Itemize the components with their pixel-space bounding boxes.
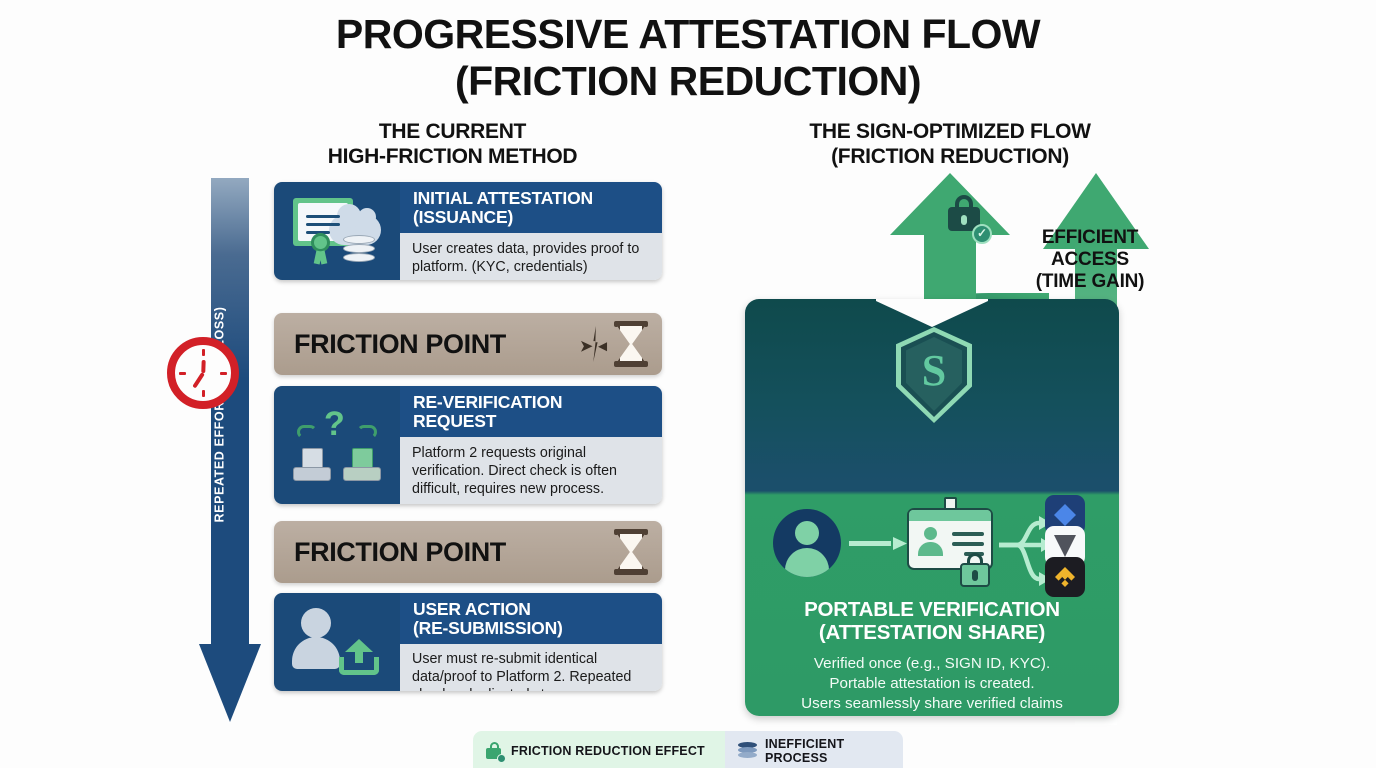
body-line-2: Portable attestation is created. — [757, 674, 1107, 694]
friction-label: FRICTION POINT — [294, 329, 580, 360]
legend-item-friction-reduction: FRICTION REDUCTION EFFECT — [473, 731, 725, 768]
portable-verification-title: PORTABLE VERIFICATION (ATTESTATION SHARE… — [745, 599, 1119, 645]
step-body: USER ACTION (RE-SUBMISSION) User must re… — [400, 593, 662, 691]
secure-access-arrow: ✓ — [890, 173, 1010, 303]
clock-icon — [167, 337, 239, 409]
shield-letter: S — [896, 349, 972, 393]
step-description: Platform 2 requests original verificatio… — [400, 437, 662, 504]
efficient-line-1: EFFICIENT — [1042, 227, 1138, 248]
step-body: INITIAL ATTESTATION (ISSUANCE) User crea… — [400, 182, 662, 280]
title-line-1: PROGRESSIVE ATTESTATION FLOW — [336, 11, 1040, 57]
efficient-access-label: EFFICIENT ACCESS (TIME GAIN) — [1010, 227, 1170, 293]
card-notch — [876, 299, 988, 327]
attestation-flow-row — [745, 489, 1119, 601]
friction-label: FRICTION POINT — [294, 537, 614, 568]
title-line-2: (FRICTION REDUCTION) — [0, 61, 1376, 102]
id-card-lock-icon — [907, 497, 993, 589]
step-card-re-verification[interactable]: ? RE-VERIFICATION REQUEST Platform 2 req… — [274, 386, 662, 504]
lock-check-icon — [486, 742, 503, 761]
legend-item-inefficient-process: INEFFICIENT PROCESS — [725, 731, 903, 768]
portable-verification-card[interactable]: S — [745, 299, 1119, 716]
right-column-heading: THE SIGN-OPTIMIZED FLOW (FRICTION REDUCT… — [735, 120, 1165, 169]
step-description: User creates data, provides proof to pla… — [400, 233, 662, 280]
legend-label: INEFFICIENT PROCESS — [765, 737, 890, 765]
binance-chain-icon — [1045, 557, 1085, 597]
step-card-initial-attestation[interactable]: INITIAL ATTESTATION (ISSUANCE) User crea… — [274, 182, 662, 280]
infographic-canvas: PROGRESSIVE ATTESTATION FLOW (FRICTION R… — [0, 0, 1376, 768]
legend-label: FRICTION REDUCTION EFFECT — [511, 744, 705, 758]
left-column-heading: THE CURRENT HIGH-FRICTION METHOD — [215, 120, 690, 169]
step-title: RE-VERIFICATION REQUEST — [400, 386, 662, 437]
body-line-1: Verified once (e.g., SIGN ID, KYC). — [757, 654, 1107, 674]
optimized-flow-panel: ✓ EFFICIENT ACCESS (TIME GAIN) S — [735, 165, 1205, 735]
sign-shield-icon: S — [896, 327, 972, 423]
step-body: RE-VERIFICATION REQUEST Platform 2 reque… — [400, 386, 662, 504]
left-heading-line-1: THE CURRENT — [379, 120, 526, 143]
friction-point-bar-2: FRICTION POINT — [274, 521, 662, 583]
friction-point-bar-1: FRICTION POINT ➤◄ — [274, 313, 662, 375]
hourglass-icon — [614, 321, 648, 367]
step-description: User must re-submit identical data/proof… — [400, 644, 662, 691]
right-heading-line-1: THE SIGN-OPTIMIZED FLOW — [809, 120, 1090, 143]
efficient-line-2: ACCESS — [1051, 249, 1129, 270]
legend: FRICTION REDUCTION EFFECT INEFFICIENT PR… — [473, 731, 903, 768]
body-line-3: Users seamlessly share verified claims — [757, 694, 1107, 714]
card-title-line-2: (ATTESTATION SHARE) — [745, 622, 1119, 645]
step-card-user-action[interactable]: USER ACTION (RE-SUBMISSION) User must re… — [274, 593, 662, 691]
repeated-effort-arrow: REPEATED EFFORT (TIME LOSS) — [200, 178, 260, 723]
step-title: INITIAL ATTESTATION (ISSUANCE) — [400, 182, 662, 233]
arrow-head — [199, 644, 261, 722]
card-title-line-1: PORTABLE VERIFICATION — [804, 598, 1060, 621]
step-title-line-2: (ISSUANCE) — [413, 208, 651, 227]
hourglass-icon — [614, 529, 648, 575]
stacked-layers-icon — [738, 742, 757, 760]
step-title-line-1: INITIAL ATTESTATION — [413, 188, 593, 208]
certificate-cloud-database-icon — [274, 182, 400, 280]
step-title-line-1: USER ACTION — [413, 599, 531, 619]
page-title: PROGRESSIVE ATTESTATION FLOW (FRICTION R… — [0, 14, 1376, 102]
portable-verification-description: Verified once (e.g., SIGN ID, KYC). Port… — [757, 654, 1107, 716]
step-title-line-1: RE-VERIFICATION — [413, 392, 562, 412]
left-heading-line-2: HIGH-FRICTION METHOD — [328, 145, 577, 168]
efficient-line-3: (TIME GAIN) — [1036, 271, 1145, 292]
friction-sparks-icon: ➤◄ — [580, 324, 610, 364]
lock-verified-icon: ✓ — [944, 195, 990, 241]
flow-arrow-icon — [849, 537, 907, 549]
user-upload-icon — [274, 593, 400, 691]
blocks-question-icon: ? — [274, 386, 400, 504]
body-line-4: across platforms. Reduced — [757, 714, 1107, 716]
step-title-line-2: (RE-SUBMISSION) — [413, 619, 651, 638]
step-title-line-2: REQUEST — [413, 412, 651, 431]
step-title: USER ACTION (RE-SUBMISSION) — [400, 593, 662, 644]
user-avatar-icon — [773, 509, 841, 577]
